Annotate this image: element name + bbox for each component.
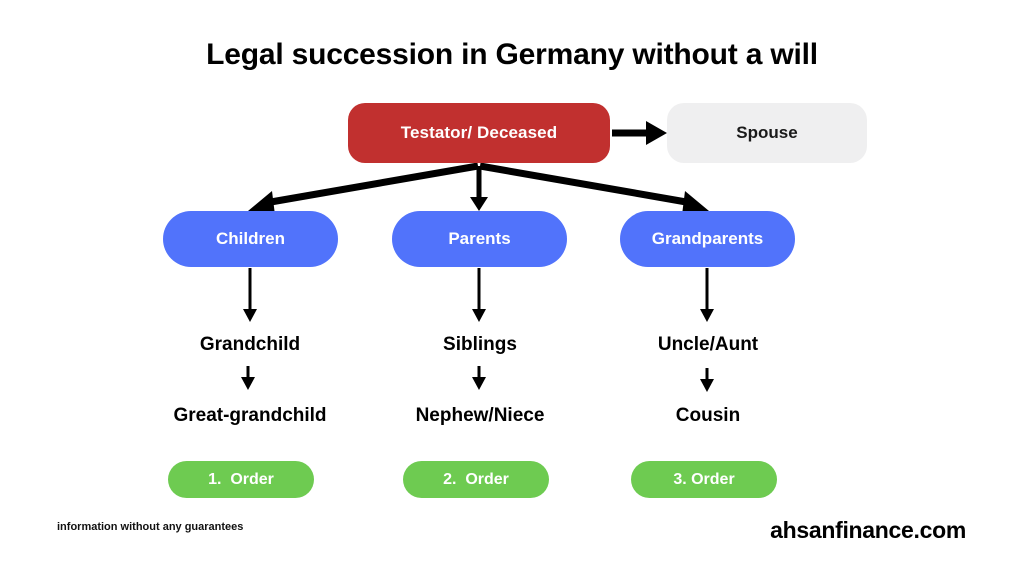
node-grandparents-label: Grandparents xyxy=(652,229,763,249)
node-children[interactable]: Children xyxy=(163,211,338,267)
text-nephew-niece: Nephew/Niece xyxy=(360,405,600,427)
arrow-uncle-aunt-to-cousin xyxy=(700,368,714,392)
node-testator-label: Testator/ Deceased xyxy=(401,123,557,143)
badge-order-3-label: 3. Order xyxy=(673,471,734,489)
badge-order-1-label: 1. Order xyxy=(208,471,274,489)
node-parents[interactable]: Parents xyxy=(392,211,567,267)
arrow-children-to-grandchild xyxy=(243,268,257,322)
arrow-testator-to-parents xyxy=(470,166,488,211)
badge-order-2: 2. Order xyxy=(403,461,549,498)
text-cousin: Cousin xyxy=(588,405,828,427)
arrow-testator-to-children xyxy=(248,166,478,215)
text-grandchild: Grandchild xyxy=(130,334,370,356)
text-great-grandchild: Great-grandchild xyxy=(130,405,370,427)
node-parents-label: Parents xyxy=(448,229,510,249)
footer-disclaimer: information without any guarantees xyxy=(57,521,243,533)
arrow-siblings-to-nephew-niece xyxy=(472,366,486,390)
node-grandparents[interactable]: Grandparents xyxy=(620,211,795,267)
footer-site: ahsanfinance.com xyxy=(770,517,966,544)
text-siblings: Siblings xyxy=(360,334,600,356)
text-uncle-aunt: Uncle/Aunt xyxy=(588,334,828,356)
badge-order-1: 1. Order xyxy=(168,461,314,498)
arrow-testator-to-spouse xyxy=(612,121,667,145)
arrow-parents-to-siblings xyxy=(472,268,486,322)
node-spouse-label: Spouse xyxy=(736,123,797,143)
node-spouse[interactable]: Spouse xyxy=(667,103,867,163)
page-title: Legal succession in Germany without a wi… xyxy=(0,38,1024,72)
node-children-label: Children xyxy=(216,229,285,249)
diagram-canvas: Legal succession in Germany without a wi… xyxy=(0,0,1024,576)
node-testator[interactable]: Testator/ Deceased xyxy=(348,103,610,163)
arrow-grandchild-to-great-grandchild xyxy=(241,366,255,390)
arrow-grandparents-to-uncle-aunt xyxy=(700,268,714,322)
badge-order-3: 3. Order xyxy=(631,461,777,498)
badge-order-2-label: 2. Order xyxy=(443,471,509,489)
arrow-testator-to-grandparents xyxy=(480,166,709,215)
